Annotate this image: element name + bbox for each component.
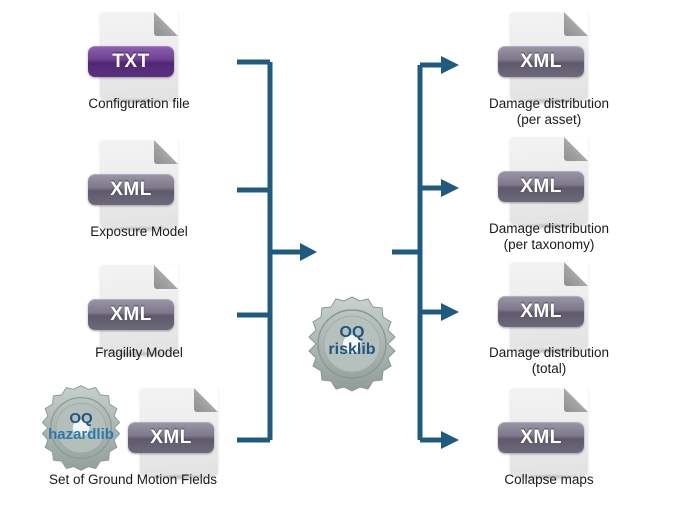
input-node-ground-motion-fields[interactable]: XML	[140, 388, 218, 480]
file-type-badge: XML	[128, 422, 214, 453]
hazardlib-gear[interactable]: OQ hazardlib	[32, 382, 130, 474]
file-icon-xml-taxonomy: XML	[510, 137, 588, 229]
input-node-exposure-model[interactable]: XML	[100, 140, 178, 232]
file-type-badge: XML	[88, 174, 174, 205]
file-icon-xml-total: XML	[510, 262, 588, 354]
output-node-collapse-maps[interactable]: XML	[510, 388, 588, 480]
input-node-configuration-file[interactable]: TXT	[100, 12, 178, 104]
file-icon-xml-exposure: XML	[100, 140, 178, 232]
diagram-canvas: TXT Configuration file XML Exposure Mode…	[0, 0, 674, 528]
caption-configuration-file: Configuration file	[20, 96, 258, 112]
file-type-badge: TXT	[88, 46, 174, 77]
input-node-fragility-model[interactable]: XML	[100, 265, 178, 357]
caption-damage-distribution-per-asset: Damage distribution (per asset)	[430, 96, 668, 128]
file-type-badge: XML	[88, 299, 174, 330]
file-icon-xml-gmf: XML	[140, 388, 218, 480]
caption-damage-distribution-total: Damage distribution (total)	[430, 345, 668, 377]
arrowhead-total	[441, 303, 459, 321]
file-type-badge: XML	[498, 422, 584, 453]
file-type-badge: XML	[498, 296, 584, 327]
file-type-badge: XML	[498, 171, 584, 202]
caption-ground-motion-fields: Set of Ground Motion Fields	[8, 472, 258, 488]
arrowhead-collapse	[441, 431, 459, 449]
arrowhead-engine-in	[300, 243, 317, 261]
file-icon-xml-fragility: XML	[100, 265, 178, 357]
file-icon-xml-asset: XML	[510, 12, 588, 104]
file-type-badge: XML	[498, 46, 584, 77]
caption-damage-distribution-per-taxonomy: Damage distribution (per taxonomy)	[430, 221, 668, 253]
caption-exposure-model: Exposure Model	[20, 224, 258, 240]
arrowhead-taxonomy	[441, 179, 459, 197]
file-icon-xml-collapse: XML	[510, 388, 588, 480]
output-node-damage-distribution-per-taxonomy[interactable]: XML	[510, 137, 588, 229]
arrowhead-asset	[441, 56, 459, 74]
risklib-gear[interactable]: OQ risklib	[302, 292, 402, 396]
output-node-damage-distribution-total[interactable]: XML	[510, 262, 588, 354]
output-node-damage-distribution-per-asset[interactable]: XML	[510, 12, 588, 104]
caption-collapse-maps: Collapse maps	[430, 472, 668, 488]
file-icon-txt: TXT	[100, 12, 178, 104]
caption-fragility-model: Fragility Model	[20, 345, 258, 361]
